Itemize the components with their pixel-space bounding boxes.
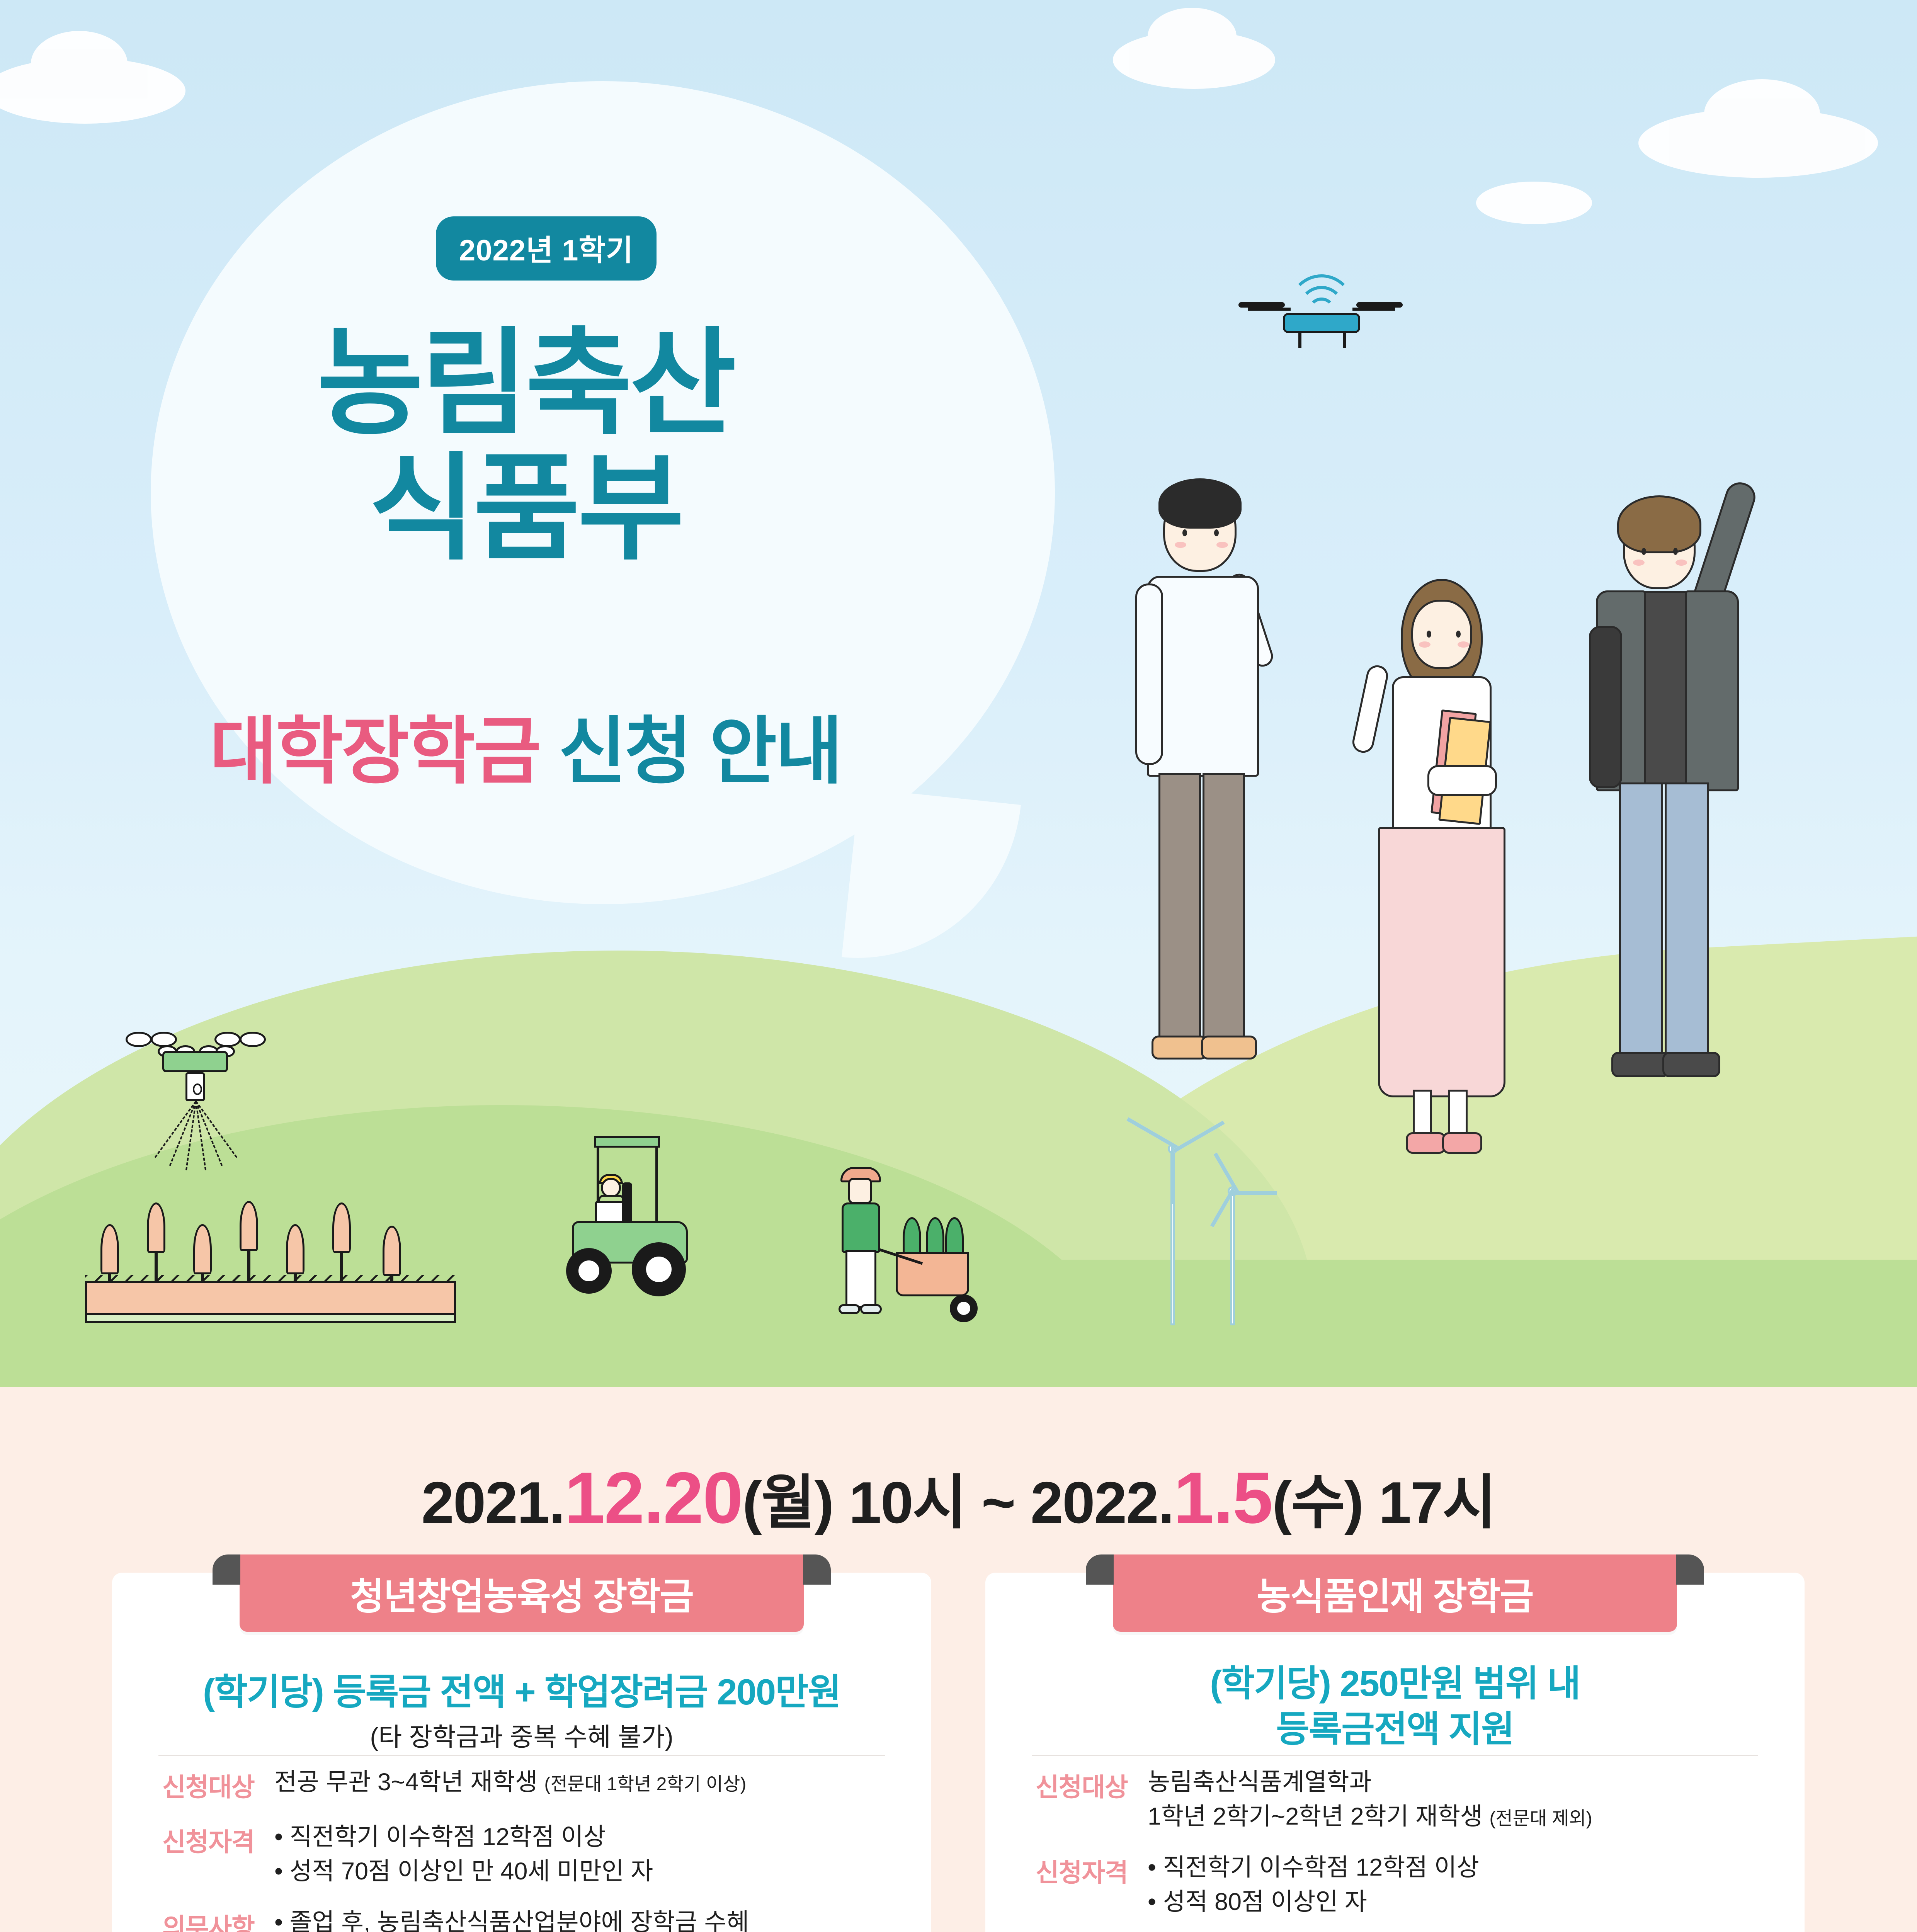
page-title: 농림축산 식품부 [0, 321, 1051, 571]
detail-row: 신청대상 농림축산식품계열학과 1학년 2학기~2학년 2학기 재학생 (전문대… [1036, 1765, 1770, 1834]
row-text: 1학년 2학기~2학년 2학기 재학생 [1148, 1803, 1490, 1830]
title-line-1: 농림축산 [0, 321, 1051, 446]
row-text: 농림축산식품계열학과 [1148, 1765, 1770, 1799]
row-text: • 직전학기 이수학점 12학점 이상 [274, 1820, 896, 1854]
card-detail-rows: 신청대상 전공 무관 3~4학년 재학생 (전문대 1학년 2학기 이상) 신청… [162, 1765, 896, 1932]
row-text: • 성적 80점 이상인 자 [1148, 1885, 1770, 1919]
detail-row: 신청자격 • 직전학기 이수학점 12학점 이상 • 성적 70점 이상인 만 … [162, 1820, 896, 1889]
subtitle-scholarship: 대학장학금 [210, 711, 540, 793]
spray-drone-icon [112, 981, 267, 1182]
period-start-date: 12.20 [565, 1457, 742, 1538]
detail-row: 의무사항 • 졸업 후, 농림축산식품산업분야에 장학금 수혜 기간만큼 취업,… [162, 1905, 896, 1932]
period-start-year: 2021. [421, 1470, 564, 1536]
row-note: (전문대 1학년 2학기 이상) [544, 1774, 747, 1794]
wheat-field-icon [85, 1179, 471, 1325]
detail-row: 신청자격 • 직전학기 이수학점 12학점 이상 • 성적 80점 이상인 자 [1036, 1850, 1770, 1920]
row-value: • 직전학기 이수학점 12학점 이상 • 성적 70점 이상인 만 40세 미… [274, 1820, 896, 1889]
cloud-icon [1113, 31, 1275, 89]
period-start-day: (월) 10시 ~ [742, 1470, 1030, 1536]
farmer-wheelbarrow-icon [827, 1167, 1001, 1329]
title-line-2: 식품부 [0, 446, 1051, 571]
period-end-day: (수) 17시 [1272, 1470, 1495, 1536]
row-text: • 성적 70점 이상인 만 40세 미만인 자 [274, 1854, 896, 1889]
hero-illustration-area: 2022년 1학기 농림축산 식품부 대학장학금 신청 안내 [0, 0, 1917, 1387]
content-area: 2021.12.20(월) 10시 ~ 2022.1.5(수) 17시 청년창업… [0, 1387, 1917, 1932]
scholarship-card-agrifood-talent: 농식품인재 장학금 (학기당) 250만원 범위 내 등록금전액 지원 신청대상… [985, 1573, 1805, 1932]
row-value: 전공 무관 3~4학년 재학생 (전문대 1학년 2학기 이상) [274, 1765, 896, 1804]
card-amount: (학기당) 등록금 전액 + 학업장려금 200만원 [112, 1669, 931, 1715]
row-text: • 직전학기 이수학점 12학점 이상 [1148, 1850, 1770, 1885]
student-right [1557, 464, 1828, 1291]
card-ribbon-title: 청년창업농육성 장학금 [240, 1554, 804, 1632]
student-left [1113, 456, 1352, 1275]
card-detail-rows: 신청대상 농림축산식품계열학과 1학년 2학기~2학년 2학기 재학생 (전문대… [1036, 1765, 1770, 1932]
row-value: • 졸업 후, 농림축산식품산업분야에 장학금 수혜 기간만큼 취업, 창업 [274, 1905, 896, 1932]
card-ribbon-title: 농식품인재 장학금 [1113, 1554, 1677, 1632]
detail-row: 신청대상 전공 무관 3~4학년 재학생 (전문대 1학년 2학기 이상) [162, 1765, 896, 1804]
row-label: 신청대상 [1036, 1765, 1148, 1834]
row-label: 신청대상 [162, 1765, 274, 1804]
application-period: 2021.12.20(월) 10시 ~ 2022.1.5(수) 17시 [0, 1455, 1917, 1540]
row-value: • 직전학기 이수학점 12학점 이상 • 성적 80점 이상인 자 [1148, 1850, 1770, 1920]
semester-badge: 2022년 1학기 [436, 216, 657, 281]
card-amount: (학기당) 250만원 범위 내 등록금전액 지원 [985, 1661, 1805, 1752]
delivery-drone-icon [1240, 270, 1403, 367]
row-label: 신청자격 [1036, 1850, 1148, 1920]
tractor-icon [549, 1132, 742, 1314]
cloud-icon [1638, 108, 1878, 178]
card-amount-note: (타 장학금과 중복 수혜 불가) [112, 1716, 931, 1753]
three-students-illustration [1113, 456, 1847, 1329]
row-value: 농림축산식품계열학과 1학년 2학기~2학년 2학기 재학생 (전문대 제외) [1148, 1765, 1770, 1834]
period-end-year: 2022. [1031, 1470, 1174, 1536]
period-end-date: 1.5 [1174, 1457, 1272, 1538]
row-text: 전공 무관 3~4학년 재학생 [274, 1769, 544, 1796]
subtitle-apply-guide: 신청 안내 [558, 711, 841, 793]
row-label: 신청자격 [162, 1820, 274, 1889]
row-text: • 졸업 후, 농림축산식품산업분야에 장학금 수혜 [274, 1905, 896, 1932]
row-note: (전문대 제외) [1490, 1808, 1592, 1829]
cloud-icon [1476, 182, 1592, 224]
page-subtitle: 대학장학금 신청 안내 [0, 692, 1051, 798]
row-label: 의무사항 [162, 1905, 274, 1932]
student-middle [1345, 549, 1577, 1306]
scholarship-card-youth-farmer: 청년창업농육성 장학금 (학기당) 등록금 전액 + 학업장려금 200만원 (… [112, 1573, 931, 1932]
